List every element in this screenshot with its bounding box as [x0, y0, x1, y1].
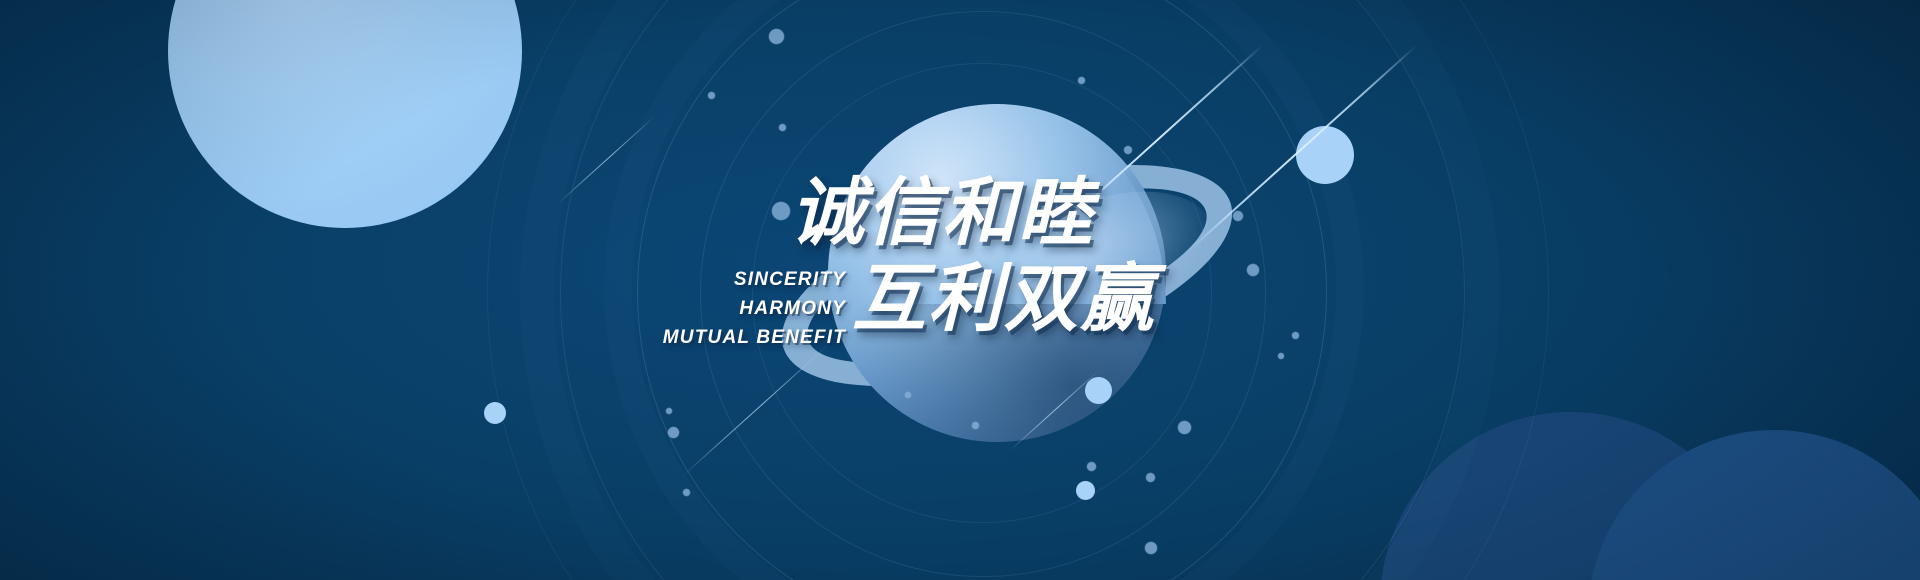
headline-group: 诚信和睦 互利双赢 — [790, 176, 1156, 336]
promo-banner: SINCERITY HARMONY MUTUAL BENEFIT 诚信和睦 互利… — [0, 0, 1920, 580]
banner-text-block: SINCERITY HARMONY MUTUAL BENEFIT 诚信和睦 互利… — [0, 0, 1920, 580]
headline-line-1: 诚信和睦 — [790, 176, 1156, 250]
headline-line-2: 互利双赢 — [852, 262, 1156, 336]
